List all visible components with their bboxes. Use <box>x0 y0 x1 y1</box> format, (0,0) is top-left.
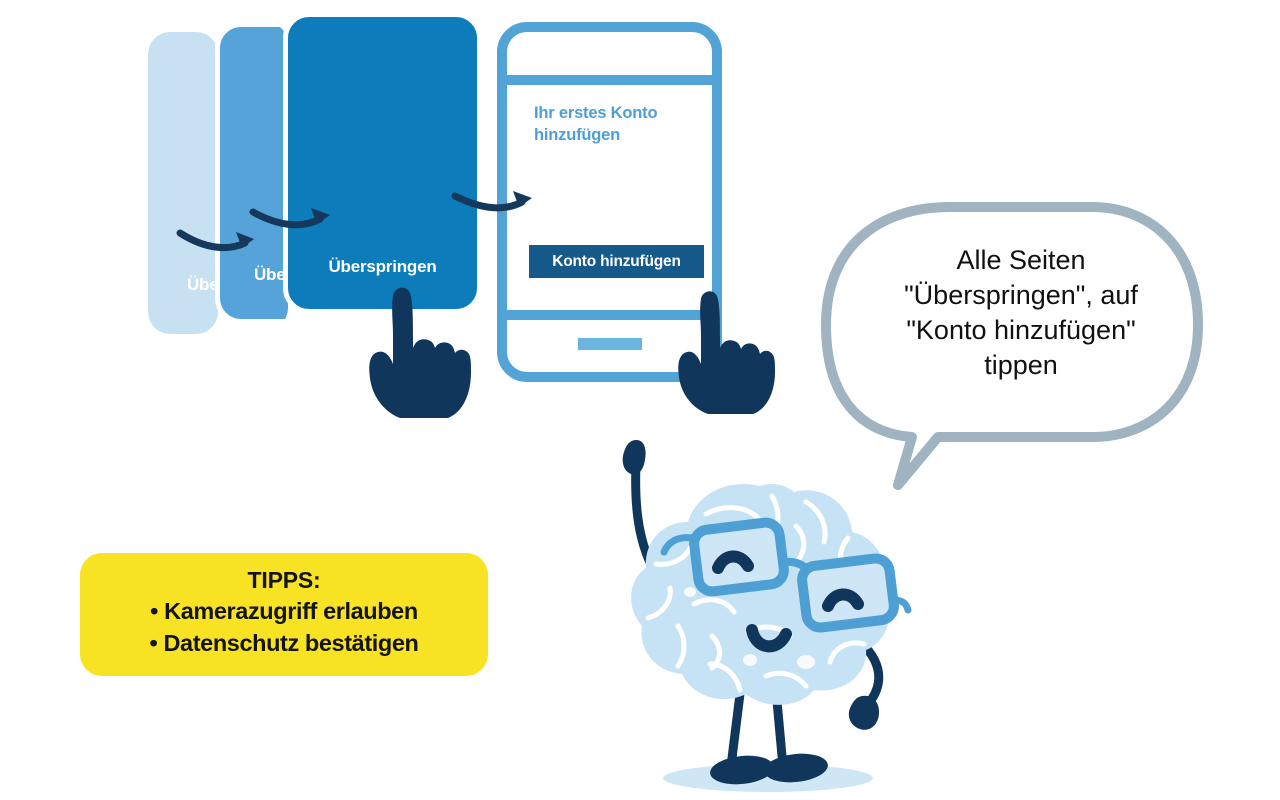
home-indicator-bar <box>578 338 642 350</box>
tips-item-1: • Kamerazugriff erlauben <box>96 596 472 628</box>
pointing-hand-icon-skip[interactable] <box>358 282 478 418</box>
speech-line-2: "Überspringen", auf <box>866 278 1176 313</box>
pointing-hand-icon-cta[interactable] <box>668 286 780 414</box>
speech-bubble-text: Alle Seiten "Überspringen", auf "Konto h… <box>866 243 1176 383</box>
tips-callout-box: TIPPS: • Kamerazugriff erlauben • Datens… <box>80 553 488 676</box>
speech-line-4: tippen <box>866 348 1176 383</box>
phone-status-divider <box>507 75 712 85</box>
speech-line-1: Alle Seiten <box>866 243 1176 278</box>
card-back-clip: Überspringen <box>148 32 218 334</box>
onboarding-card-back[interactable]: Überspringen <box>148 32 218 334</box>
brain-mascot <box>600 418 930 800</box>
illustration-canvas: Überspringen Überspringen Überspringen I… <box>0 0 1280 800</box>
card-middle-clip: Überspringen <box>215 22 288 330</box>
card-label-middle: Überspringen <box>220 265 288 285</box>
tips-item-2: • Datenschutz bestätigen <box>96 628 472 660</box>
onboarding-card-middle[interactable]: Überspringen <box>215 22 288 324</box>
card-label-back: Überspringen <box>148 275 218 295</box>
mascot-legs <box>709 690 830 787</box>
onboarding-card-front[interactable]: Überspringen <box>283 12 482 314</box>
add-account-button[interactable]: Konto hinzufügen <box>529 245 704 278</box>
phone-screen-heading: Ihr erstes Konto hinzufügen <box>534 103 689 147</box>
tips-title: TIPPS: <box>96 567 472 594</box>
card-label-front: Überspringen <box>288 257 477 277</box>
speech-line-3: "Konto hinzufügen" <box>866 313 1176 348</box>
phone-screen: Ihr erstes Konto hinzufügen Konto hinzuf… <box>507 85 712 310</box>
